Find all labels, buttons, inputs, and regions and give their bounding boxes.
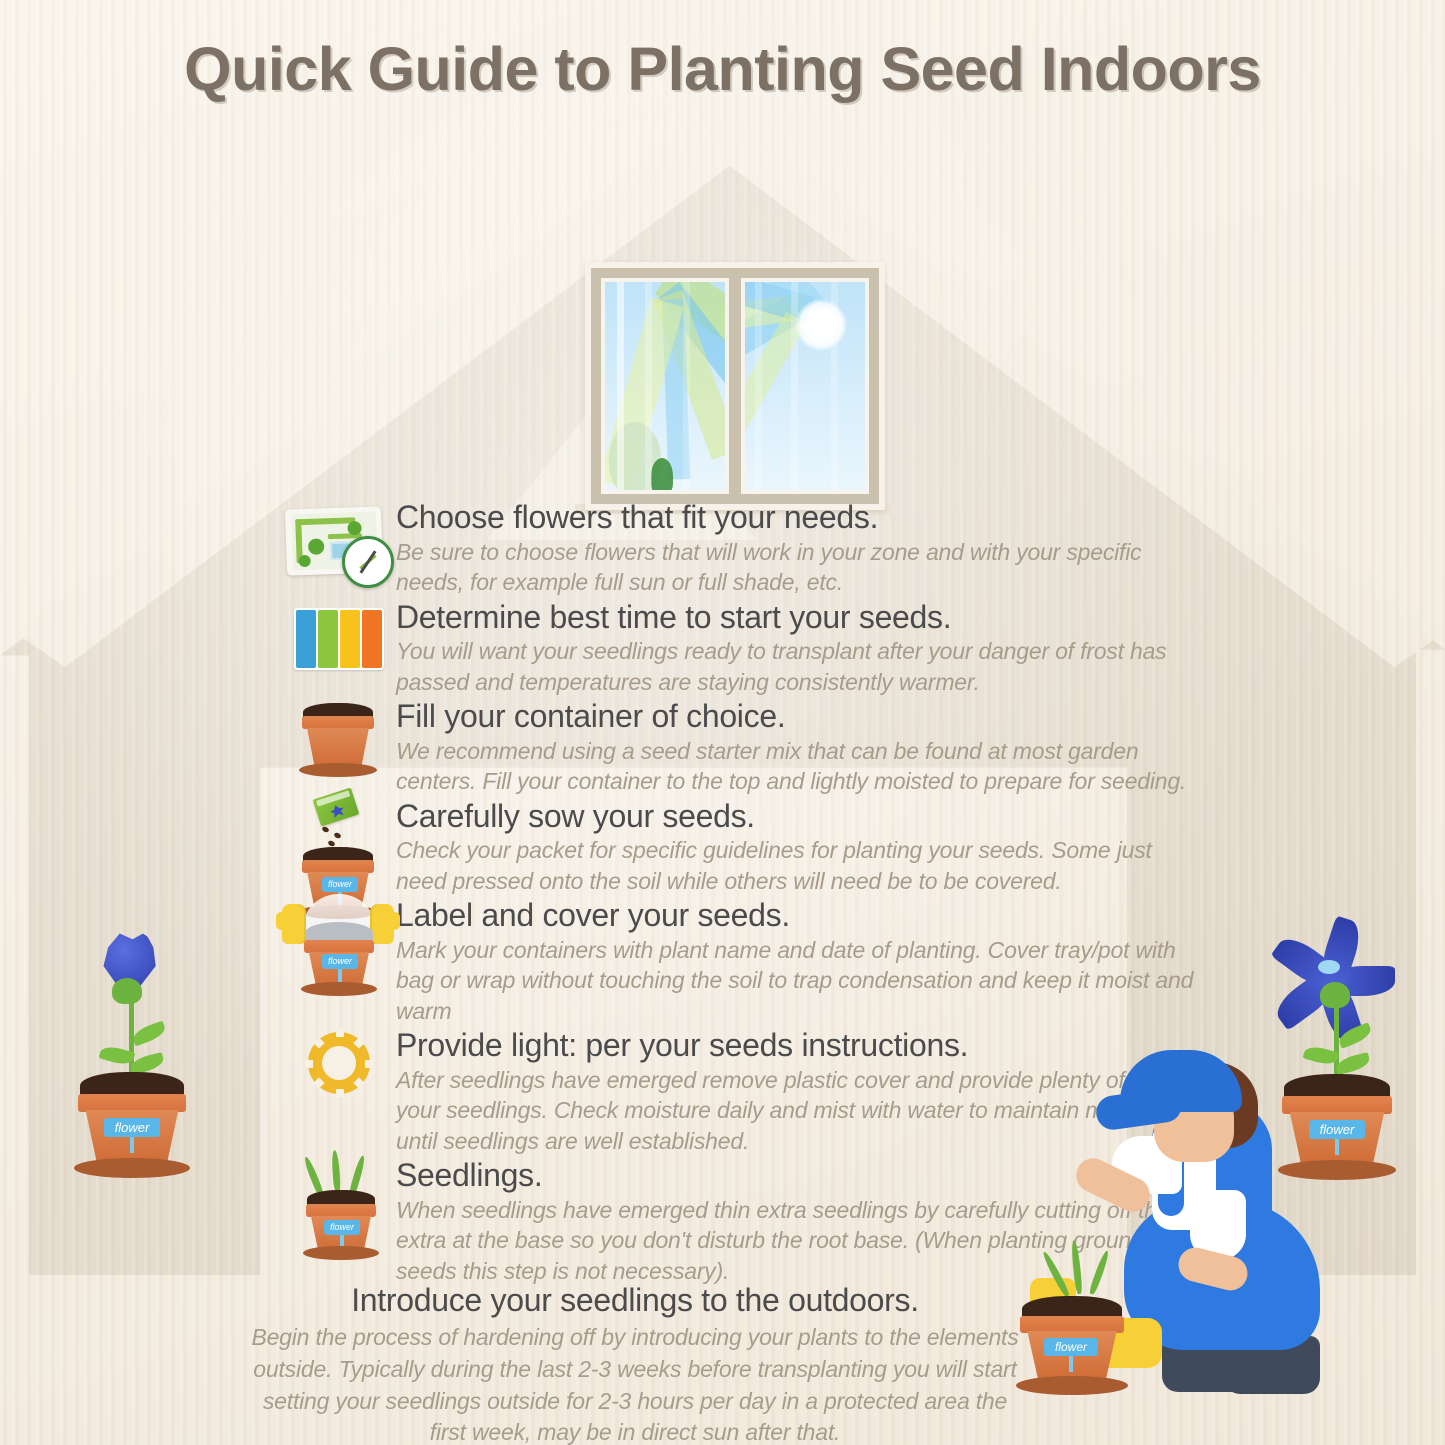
step-item: flower Label and cover your seeds. Mark … [288,898,1208,1032]
seed [333,831,341,838]
glass-reflection [617,282,624,490]
step-body: Check your packet for specific guideline… [396,835,1208,896]
pot-label: flower [324,1220,360,1235]
step-heading: Carefully sow your seeds. [396,799,1208,835]
season-summer [340,610,360,668]
four-seasons-icon [294,608,384,670]
sepal [112,978,142,1004]
closing-body: Begin the process of hardening off by in… [250,1322,1020,1445]
step-item: Fill your container of choice. We recomm… [288,699,1208,803]
seedling-blade [1070,1240,1083,1294]
window-illustration [585,262,885,510]
step-body: Mark your containers with plant name and… [396,935,1208,1026]
leaf [1335,1052,1372,1075]
step-text: Carefully sow your seeds. Check your pac… [392,799,1208,903]
gardener-pot: flower [1020,1250,1132,1390]
glass-reflection [755,282,762,490]
glass-reflection [645,282,652,490]
kneeling-gardener-illustration: flower [1012,1040,1332,1420]
seed [321,825,329,832]
season-winter [296,610,316,668]
closing-section: Introduce your seedlings to the outdoors… [250,1283,1020,1445]
step-heading: Choose flowers that fit your needs. [396,500,1208,536]
infographic-poster: Quick Guide to Planting Seed Indoors C [0,0,1445,1445]
step-body: We recommend using a seed starter mix th… [396,736,1208,797]
seedling-pot-icon: flower [306,1190,376,1264]
pot-label: flower [1044,1338,1098,1356]
sun-icon [795,299,847,351]
glove-icon [282,904,306,944]
seedling-blade [1088,1250,1110,1296]
page-title: Quick Guide to Planting Seed Indoors [0,34,1445,104]
step-body: You will want your seedlings ready to tr… [396,636,1208,697]
step-item: flower Carefully sow your seeds. Check y… [288,799,1208,903]
leaf [130,1021,167,1047]
step-body: Be sure to choose flowers that will work… [396,537,1208,598]
closing-heading: Introduce your seedlings to the outdoors… [250,1283,1020,1318]
season-spring [318,610,338,668]
step-item: Determine best time to start your seeds.… [288,600,1208,704]
step-text: Label and cover your seeds. Mark your co… [392,898,1208,1032]
step-heading: Determine best time to start your seeds. [396,600,1208,636]
seedling-blade [1041,1250,1071,1297]
terracotta-pot: flower [78,1072,186,1180]
season-autumn [362,610,382,668]
compass-icon [342,536,394,588]
window-pane-left [601,278,729,494]
pot-label: flower [322,877,358,892]
step-text: Fill your container of choice. We recomm… [392,699,1208,803]
pot-label: flower [322,954,358,969]
step-heading: Fill your container of choice. [396,699,1208,735]
glass-reflection [683,282,690,490]
window-pane-right [741,278,869,494]
glass-reflection [831,282,838,490]
step-text: Choose flowers that fit your needs. Be s… [392,500,1208,604]
gloves-covered-pot-icon: flower [304,924,374,1000]
step-item: Choose flowers that fit your needs. Be s… [288,500,1208,604]
filled-pot-icon [302,703,374,777]
step-text: Determine best time to start your seeds.… [392,600,1208,704]
pot-label: flower [104,1118,160,1137]
glass-reflection [791,282,798,490]
outdoor-shrub [651,458,673,494]
sun-ring-icon [308,1032,370,1094]
left-flower-pot-illustration: flower [72,930,192,1180]
terracotta-pot: flower [1020,1296,1124,1396]
step-heading: Label and cover your seeds. [396,898,1208,934]
